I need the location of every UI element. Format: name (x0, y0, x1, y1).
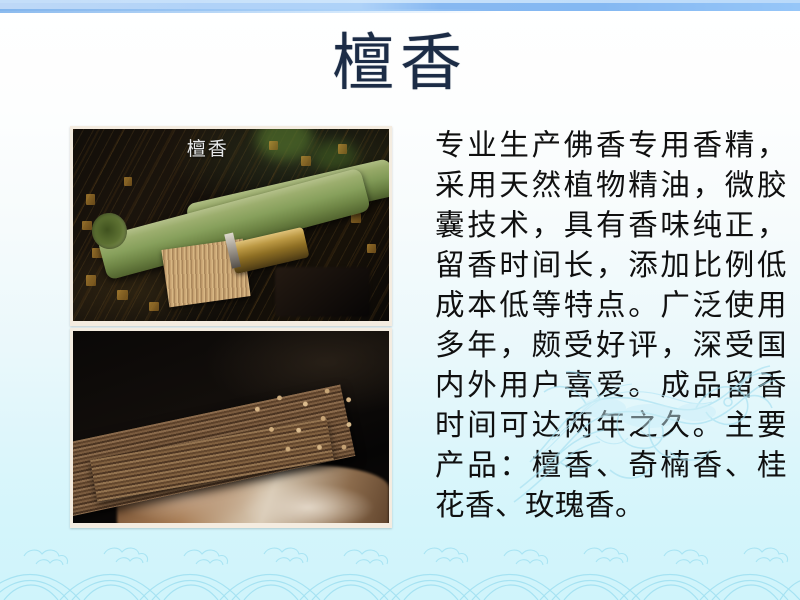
photo-dark-foreground-block (275, 267, 370, 317)
body-paragraph: 专业生产佛香专用香精，采用天然植物精油，微胶囊技术，具有香味纯正，留香时间长，添… (435, 126, 787, 526)
top-accent-band-tail (0, 9, 496, 13)
top-accent-band-highlight (0, 0, 800, 3)
green-incense-tubes-photo: 檀香 (73, 129, 389, 321)
photo-frame-top: 檀香 (70, 126, 392, 326)
slide-canvas: 檀香 (0, 0, 800, 600)
slide-title: 檀香 (0, 26, 800, 102)
top-accent-band (0, 0, 800, 11)
brown-incense-sticks-photo (73, 331, 389, 523)
photo-caption-top: 檀香 (187, 139, 229, 161)
photo-frame-bottom (70, 328, 392, 528)
